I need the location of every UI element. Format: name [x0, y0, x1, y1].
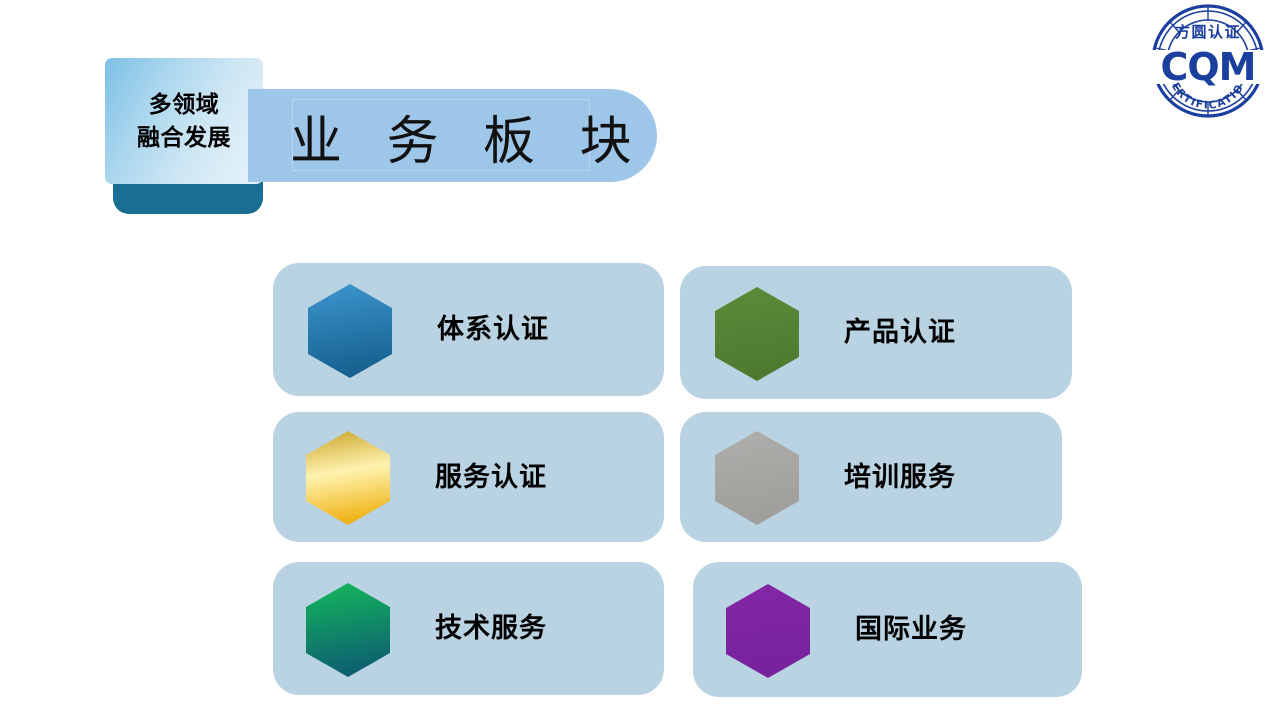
hexagon-icon: [305, 282, 395, 378]
card-label: 技术服务: [435, 615, 547, 642]
card-label: 产品认证: [844, 319, 956, 346]
hexagon-icon: [303, 429, 393, 525]
card-product-certification[interactable]: 产品认证: [680, 266, 1072, 399]
hexagon-icon: [712, 285, 802, 381]
card-label: 国际业务: [855, 616, 967, 643]
slide-canvas: 多领域 融合发展 业 务 板 块: [0, 0, 1280, 720]
card-label: 服务认证: [435, 464, 547, 491]
card-international-business[interactable]: 国际业务: [693, 562, 1082, 697]
hexagon-icon: [712, 429, 802, 525]
business-sector-grid: 体系认证产品认证服务认证培训服务技术服务国际业务: [0, 0, 1280, 720]
hexagon-icon: [723, 582, 813, 678]
card-training-service[interactable]: 培训服务: [680, 412, 1062, 542]
card-label: 培训服务: [844, 464, 956, 491]
hexagon-icon: [303, 581, 393, 677]
card-service-certification[interactable]: 服务认证: [273, 412, 664, 542]
card-system-certification[interactable]: 体系认证: [273, 263, 664, 396]
card-technical-service[interactable]: 技术服务: [273, 562, 664, 695]
card-label: 体系认证: [437, 316, 549, 343]
